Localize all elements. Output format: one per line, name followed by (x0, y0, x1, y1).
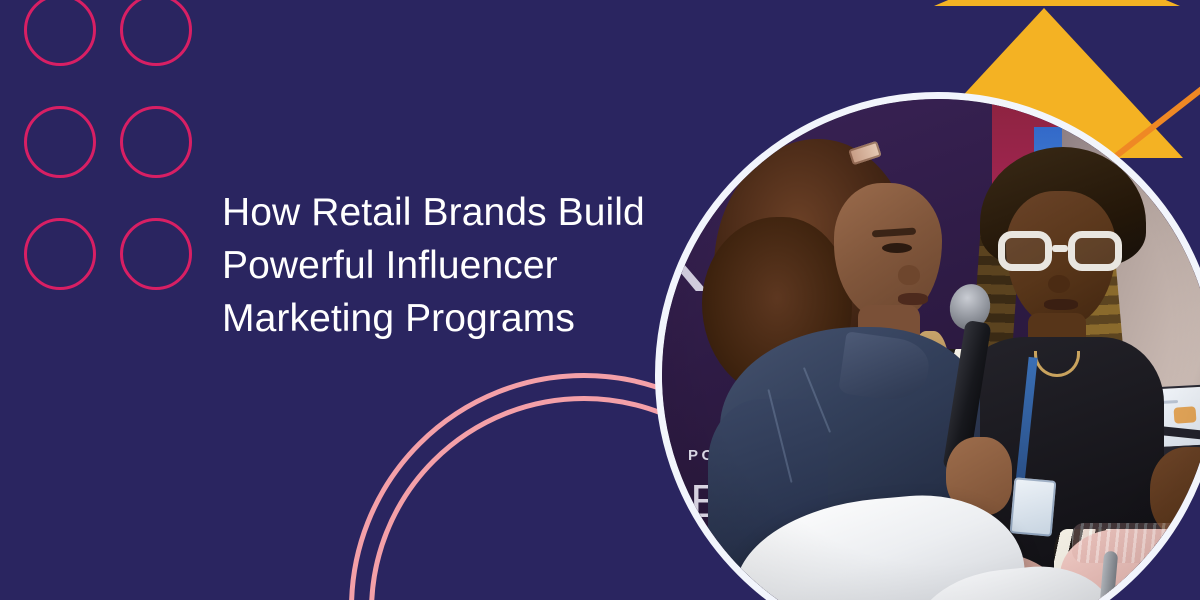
speaker-right-nose (1048, 275, 1070, 293)
speaker-right-badge (1010, 477, 1057, 536)
decorative-circle (120, 218, 192, 290)
pink-tulle-texture (1072, 523, 1200, 563)
speaker-left-mouth (898, 293, 928, 305)
speaker-left-eye (882, 243, 912, 253)
decorative-circle (24, 218, 96, 290)
hero-photo-circle: KET POWERED BY MERALD (655, 92, 1200, 600)
speaker-right-mouth (1044, 299, 1078, 310)
hero-photo: KET POWERED BY MERALD (662, 99, 1200, 600)
decorative-circle-grid (0, 0, 220, 300)
laptop-screen-graphic (1173, 406, 1196, 423)
triangle-top-clipped-icon (934, 0, 1180, 6)
speaker-left-nose (898, 265, 920, 285)
decorative-circle (24, 106, 96, 178)
page-title: How Retail Brands Build Powerful Influen… (222, 186, 652, 345)
decorative-circle (120, 0, 192, 66)
decorative-circle (24, 0, 96, 66)
decorative-circle (120, 106, 192, 178)
speaker-right-glasses (998, 231, 1122, 271)
marketing-banner: How Retail Brands Build Powerful Influen… (0, 0, 1200, 600)
